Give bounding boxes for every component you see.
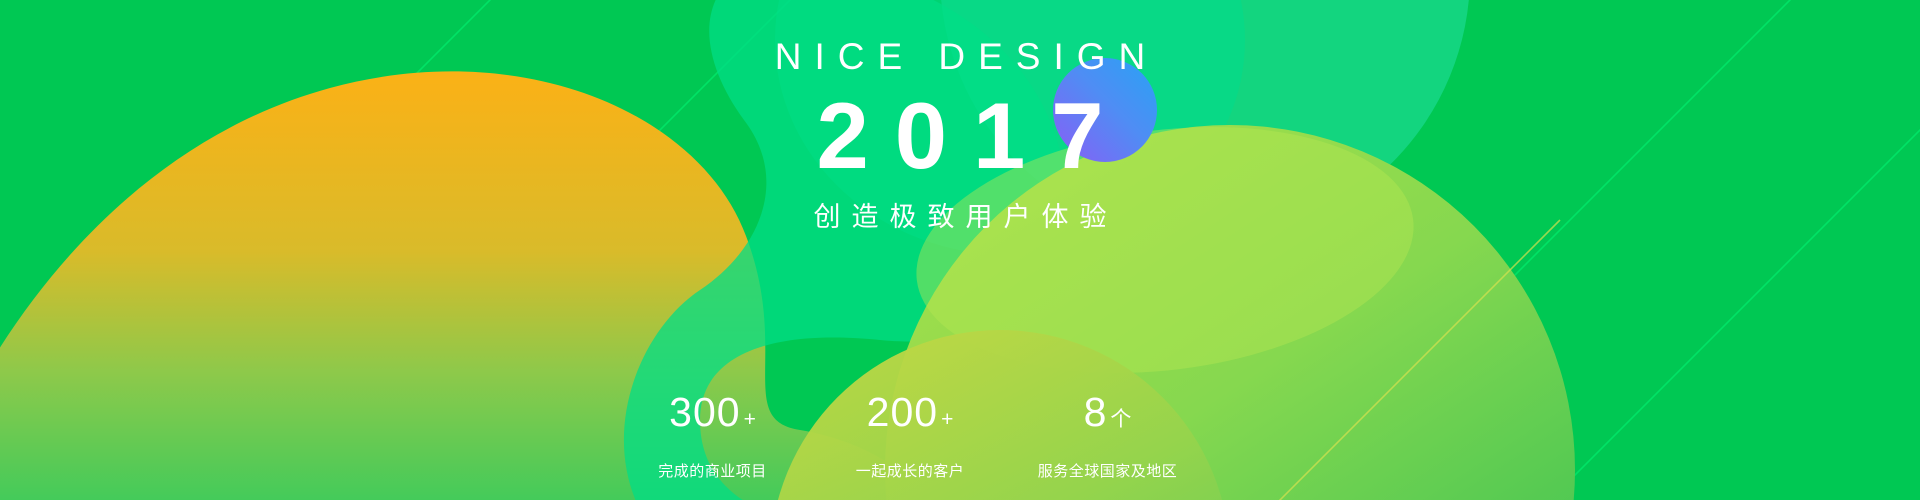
hero-text-block: NICE DESIGN 2017 创造极致用户体验 <box>0 34 1920 238</box>
stat-item: 200+ 一起成长的客户 <box>818 388 1003 482</box>
banner-tagline: 创造极致用户体验 <box>0 198 1920 238</box>
stat-value: 300+ <box>620 388 805 444</box>
stat-item: 8个 服务全球国家及地区 <box>1015 388 1200 482</box>
stat-number: 200 <box>867 389 938 435</box>
stat-item: 300+ 完成的商业项目 <box>620 388 805 482</box>
banner-kicker: NICE DESIGN <box>0 34 1920 80</box>
banner-content: NICE DESIGN 2017 创造极致用户体验 300+ 完成的商业项目 2… <box>0 0 1920 500</box>
hero-banner: NICE DESIGN 2017 创造极致用户体验 300+ 完成的商业项目 2… <box>0 0 1920 500</box>
stat-value: 200+ <box>818 388 1003 444</box>
stat-value: 8个 <box>1015 388 1200 444</box>
stat-suffix: + <box>938 408 953 431</box>
stat-suffix: 个 <box>1107 408 1131 431</box>
stat-suffix: + <box>741 408 756 431</box>
stat-label: 完成的商业项目 <box>620 460 805 482</box>
banner-year: 2017 <box>0 82 1920 190</box>
stat-label: 服务全球国家及地区 <box>1015 460 1200 482</box>
stat-number: 8 <box>1084 389 1108 435</box>
stat-label: 一起成长的客户 <box>818 460 1003 482</box>
stats-row: 300+ 完成的商业项目 200+ 一起成长的客户 8个 服务全球国家及地区 <box>620 388 1200 482</box>
stat-number: 300 <box>669 389 740 435</box>
